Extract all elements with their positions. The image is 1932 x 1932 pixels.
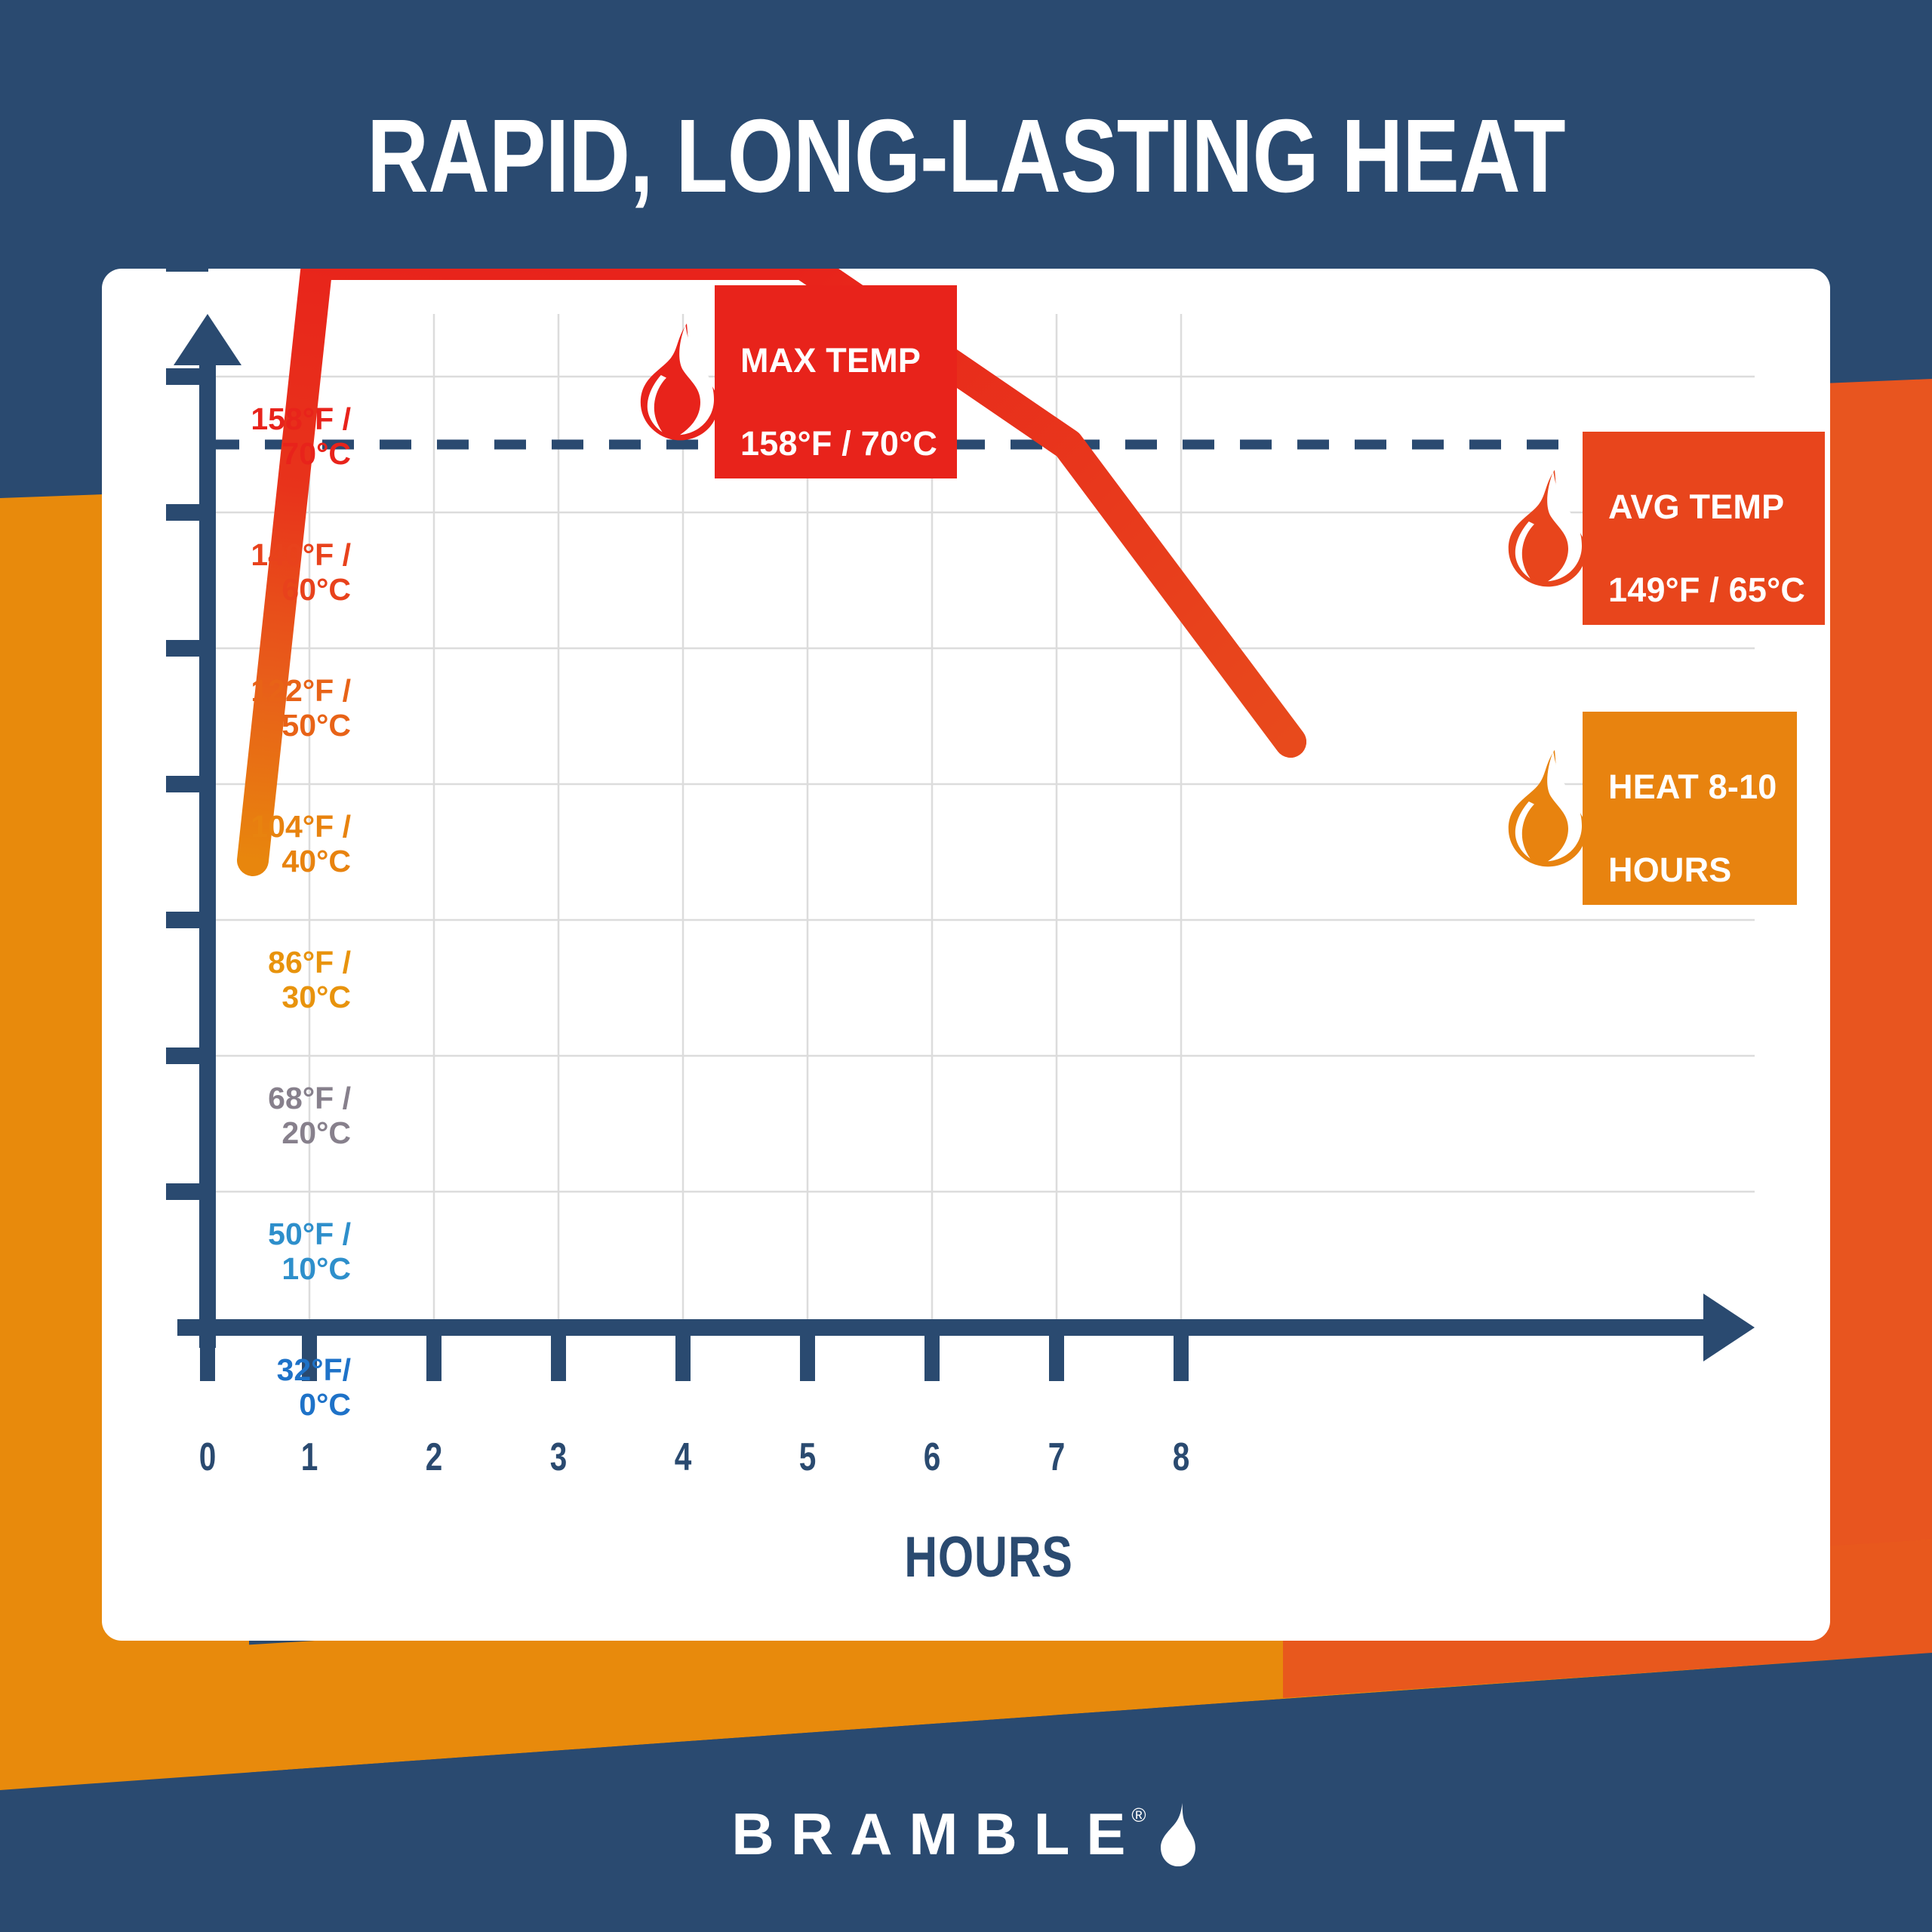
page-title: RAPID, LONG-LASTING HEAT — [174, 97, 1758, 217]
x-tick-label-2: 2 — [411, 1435, 457, 1480]
x-axis-title: HOURS — [808, 1524, 1170, 1590]
callout-heat-hours-text: HEAT 8-10 HOURS — [1583, 712, 1797, 905]
x-axis — [177, 1294, 1755, 1361]
y-tick-label-0c: 32°F/ 0°C — [177, 1353, 351, 1423]
flame-icon — [1154, 1802, 1201, 1867]
x-tick-label-3: 3 — [535, 1435, 582, 1480]
y-tick-label-50c: 122°F / 50°C — [177, 674, 351, 743]
x-tick-label-1: 1 — [286, 1435, 333, 1480]
callout-avg-temp-line1: AVG TEMP — [1608, 488, 1784, 526]
callout-heat-hours-line1: HEAT 8-10 — [1608, 768, 1777, 806]
callout-max-temp: MAX TEMP 158°F / 70°C — [638, 285, 957, 478]
x-tick-label-4: 4 — [660, 1435, 706, 1480]
callout-avg-temp: AVG TEMP 149°F / 65°C — [1506, 432, 1825, 625]
x-tick-label-8: 8 — [1158, 1435, 1204, 1480]
callout-max-temp-text: MAX TEMP 158°F / 70°C — [715, 285, 957, 478]
x-tick-label-7: 7 — [1033, 1435, 1080, 1480]
y-tick-label-40c: 104°F / 40°C — [177, 810, 351, 879]
brand-logo: BRAMBLE® — [0, 1800, 1932, 1869]
x-tick-label-6: 6 — [909, 1435, 955, 1480]
x-tick-label-0: 0 — [184, 1435, 231, 1480]
y-tick-label-30c: 86°F / 30°C — [177, 946, 351, 1015]
y-tick-label-70c: 158°F / 70°C — [177, 402, 351, 472]
flame-icon — [1506, 747, 1590, 869]
y-tick-label-60c: 140°F / 60°C — [177, 538, 351, 608]
y-tick-label-10c: 50°F / 10°C — [177, 1217, 351, 1287]
callout-max-temp-line2: 158°F / 70°C — [740, 424, 937, 463]
callout-heat-hours-line2: HOURS — [1608, 851, 1732, 889]
callout-avg-temp-line2: 149°F / 65°C — [1608, 571, 1805, 609]
x-tick-label-5: 5 — [784, 1435, 831, 1480]
callout-heat-hours: HEAT 8-10 HOURS — [1506, 712, 1797, 905]
y-tick-label-20c: 68°F / 20°C — [177, 1081, 351, 1151]
callout-max-temp-line1: MAX TEMP — [740, 341, 921, 380]
flame-icon — [1506, 467, 1590, 589]
registered-mark: ® — [1131, 1804, 1146, 1826]
brand-name: BRAMBLE — [731, 1801, 1142, 1867]
callout-avg-temp-text: AVG TEMP 149°F / 65°C — [1583, 432, 1825, 625]
flame-icon — [638, 321, 722, 443]
